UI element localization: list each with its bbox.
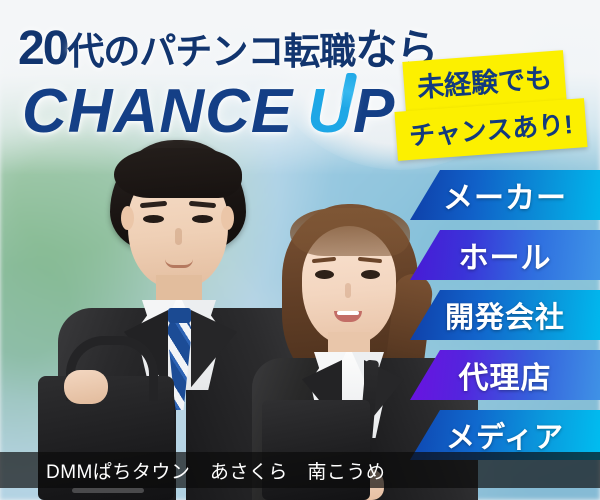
category-label: メーカー	[443, 173, 567, 217]
category-label: 開発会社	[445, 294, 565, 336]
wordmark-p: P	[353, 77, 395, 146]
man-tie-knot	[168, 308, 191, 323]
recruitment-banner: 20代のパチンコ転職なら CHANCEUP 未経験でも チャンスあり! メーカー…	[0, 0, 600, 500]
headline-main: 代のパチンコ転職	[67, 31, 355, 72]
woman-teeth	[337, 311, 359, 315]
woman-nose	[345, 283, 351, 298]
man-nose	[175, 228, 182, 245]
wordmark-chance: CHANCE	[22, 77, 293, 146]
category-label: 代理店	[459, 353, 552, 397]
man-eye-right	[192, 215, 213, 223]
category-list: メーカー ホール 開発会社 代理店 メディア	[400, 170, 600, 470]
man-eye-left	[143, 215, 164, 223]
man-ear-right	[221, 206, 234, 230]
woman-eye-left	[315, 270, 334, 279]
caption-band: DMMぱちタウン あさくら 南こうめ	[0, 452, 600, 488]
category-hall[interactable]: ホール	[410, 230, 600, 280]
man-hand	[64, 370, 108, 404]
woman-eye-right	[361, 270, 380, 279]
page-title: 20代のパチンコ転職なら	[18, 16, 437, 77]
badge-label: チャンスあり!	[408, 109, 574, 151]
category-label: ホール	[459, 233, 552, 277]
woman-bangs	[290, 208, 410, 256]
category-label: メディア	[446, 414, 564, 456]
badge-label: 未経験でも	[416, 63, 553, 103]
man-hair-front	[114, 148, 242, 198]
category-development-company[interactable]: 開発会社	[410, 290, 600, 340]
chance-up-logo: CHANCEUP	[22, 76, 395, 147]
wordmark-u-accent: U	[307, 76, 353, 147]
category-maker[interactable]: メーカー	[410, 170, 600, 220]
category-agency[interactable]: 代理店	[410, 350, 600, 400]
man-ear-left	[121, 206, 134, 230]
briefcase-studs	[86, 488, 130, 493]
headline-number: 20	[18, 22, 67, 75]
caption-text: DMMぱちタウン あさくら 南こうめ	[46, 457, 385, 484]
